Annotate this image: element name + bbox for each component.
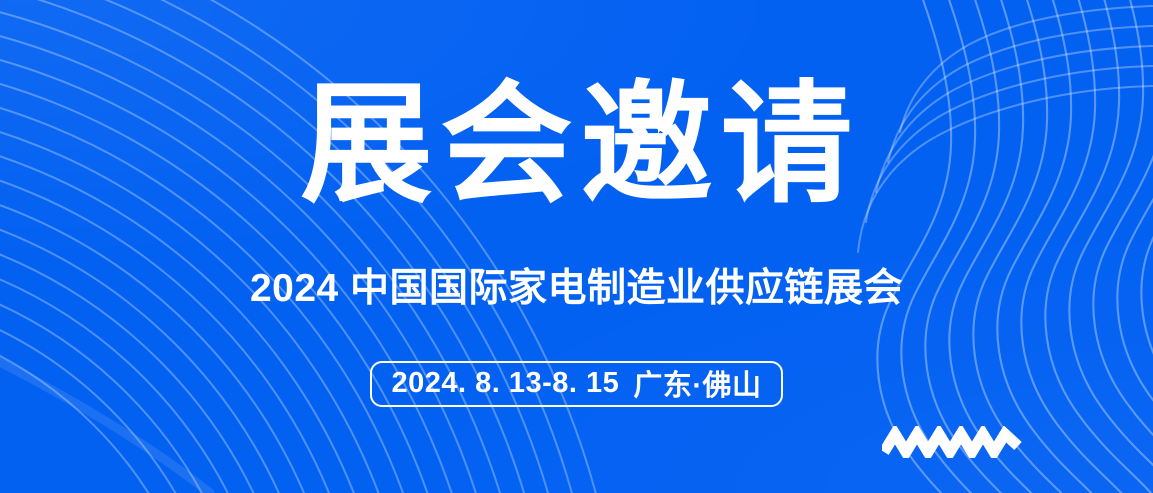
- event-badge-container: 2024. 8. 13-8. 15 广东·佛山: [0, 361, 1153, 407]
- event-date-range: 2024. 8. 13-8. 15: [392, 367, 620, 400]
- poster-content: 展会邀请 2024 中国国际家电制造业供应链展会 2024. 8. 13-8. …: [0, 0, 1153, 493]
- event-location: 广东·佛山: [633, 362, 761, 404]
- page-subtitle: 2024 中国国际家电制造业供应链展会: [0, 268, 1153, 311]
- event-date-location-badge: 2024. 8. 13-8. 15 广东·佛山: [370, 361, 784, 407]
- exhibition-invitation-poster: 展会邀请 2024 中国国际家电制造业供应链展会 2024. 8. 13-8. …: [0, 0, 1153, 493]
- page-title: 展会邀请: [0, 79, 1153, 211]
- zigzag-chevron-icon: [882, 426, 1024, 458]
